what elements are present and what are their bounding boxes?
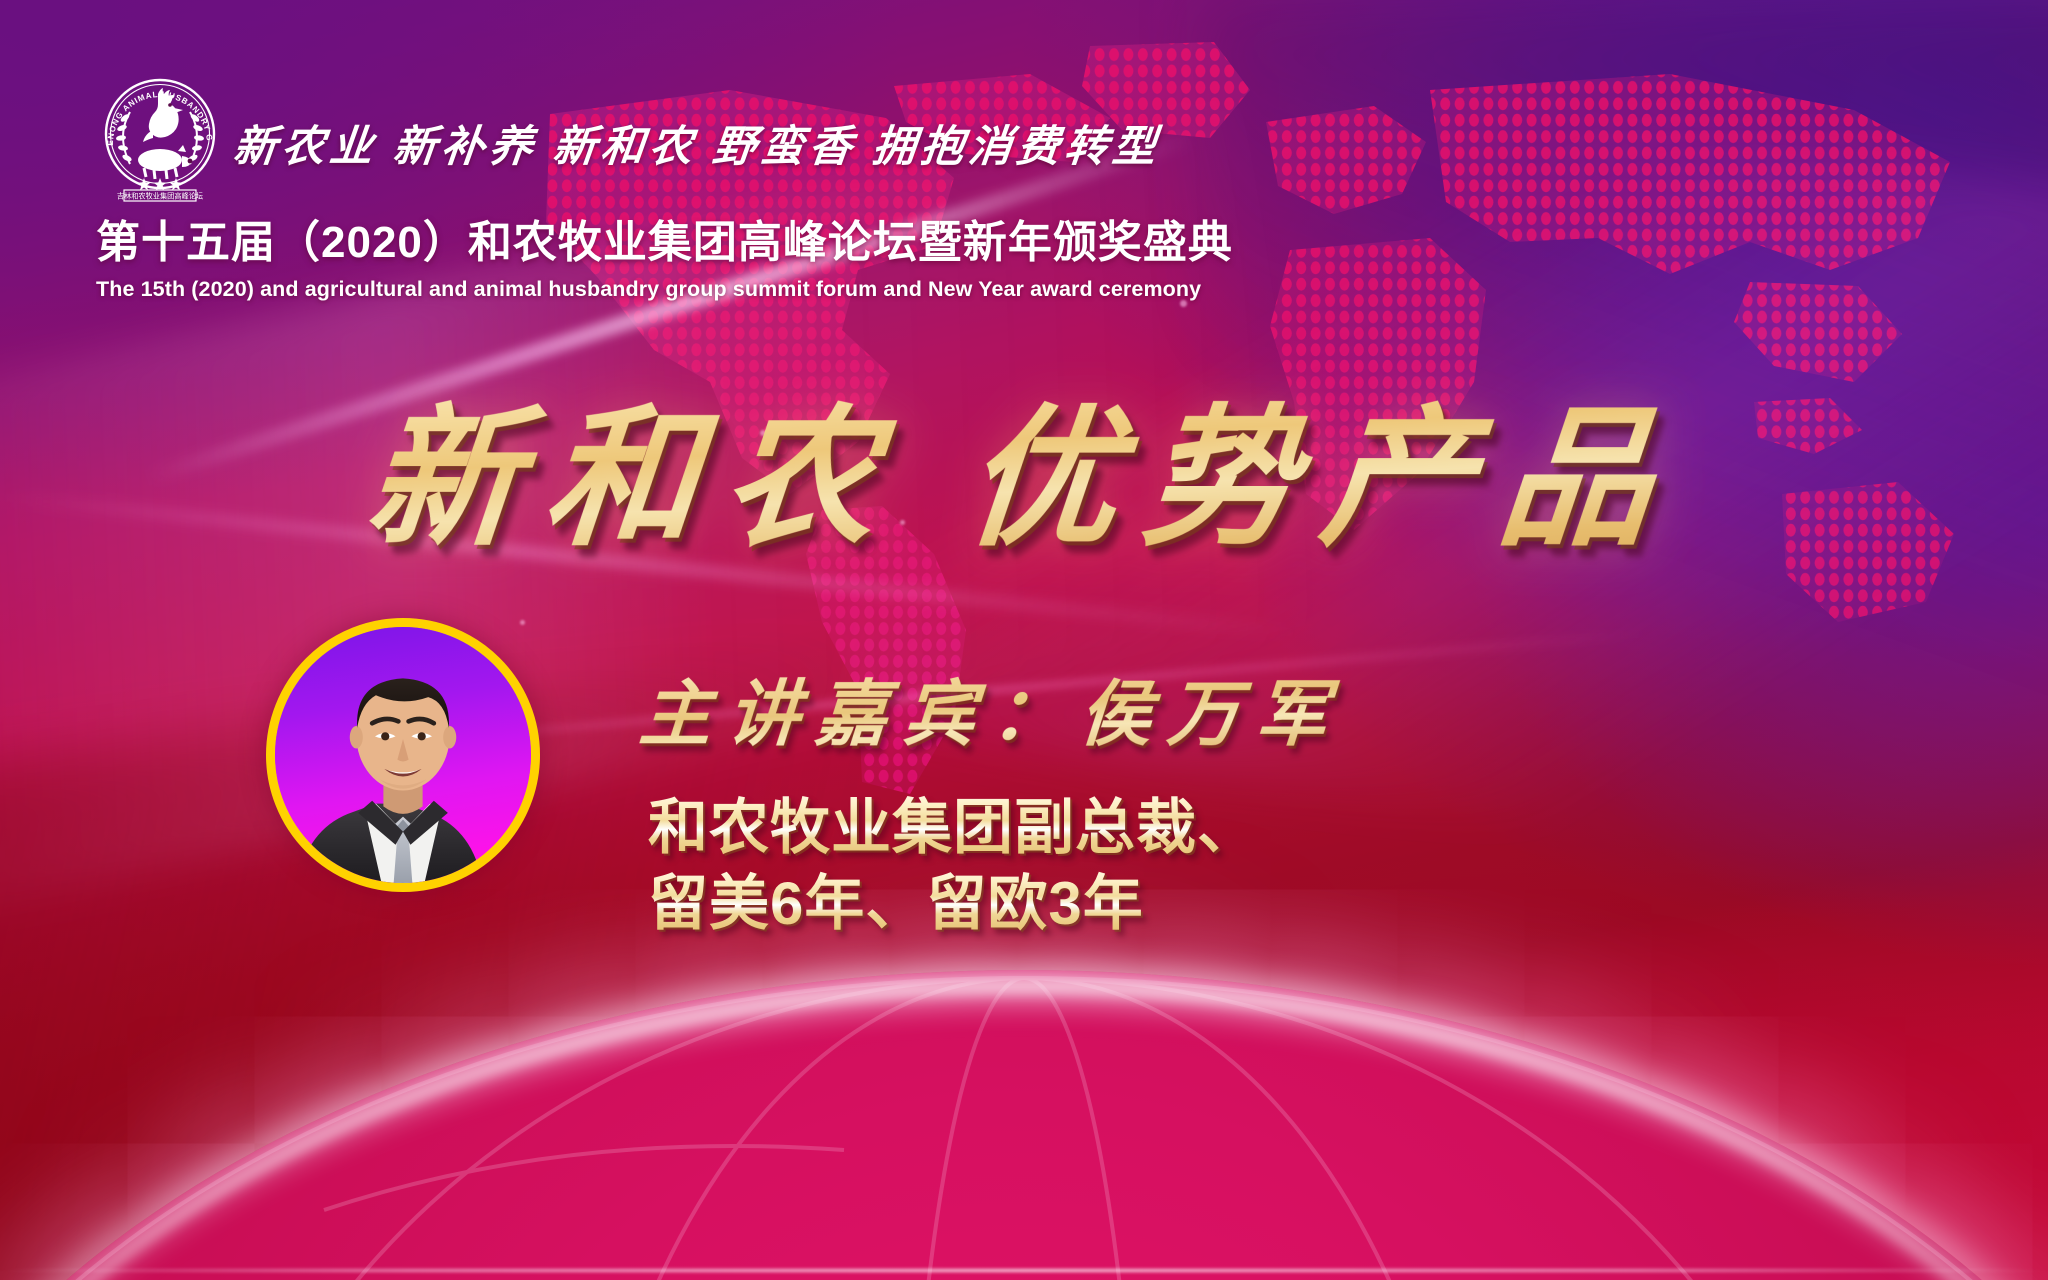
- event-title-english: The 15th (2020) and agricultural and ani…: [96, 277, 1096, 302]
- main-headline: 新和农 优势产品: [0, 355, 2048, 575]
- event-title-chinese: 第十五届（2020）和农牧业集团高峰论坛暨新年颁奖盛典: [96, 206, 1096, 270]
- bokeh-speck: [1180, 300, 1187, 307]
- logo-and-slogan-row: CHINA JILIN HENONG ANIMAL HUSBANDRY GROU…: [96, 72, 1096, 204]
- speaker-bio-block: 和农牧业集团副总裁、 留美6年、留欧3年: [648, 790, 1258, 941]
- bokeh-speck: [520, 620, 525, 625]
- company-crest-logo-icon: CHINA JILIN HENONG ANIMAL HUSBANDRY GROU…: [96, 72, 224, 204]
- speaker-bio-line-2: 留美6年、留欧3年: [648, 866, 1258, 942]
- poster-canvas: CHINA JILIN HENONG ANIMAL HUSBANDRY GROU…: [0, 0, 2048, 1280]
- header-slogan: 新农业 新补养 新和农 野蛮香 拥抱消费转型: [231, 112, 1165, 174]
- speaker-portrait-avatar: [266, 618, 540, 892]
- speaker-name-line: 主讲嘉宾：侯万军: [636, 655, 1347, 760]
- header-block: CHINA JILIN HENONG ANIMAL HUSBANDRY GROU…: [96, 72, 1096, 302]
- speaker-bio-line-1: 和农牧业集团副总裁、: [648, 790, 1258, 866]
- bottom-edge-line: [0, 1269, 2048, 1272]
- logo-plate-text: 吉林和农牧业集团高峰论坛: [117, 191, 203, 200]
